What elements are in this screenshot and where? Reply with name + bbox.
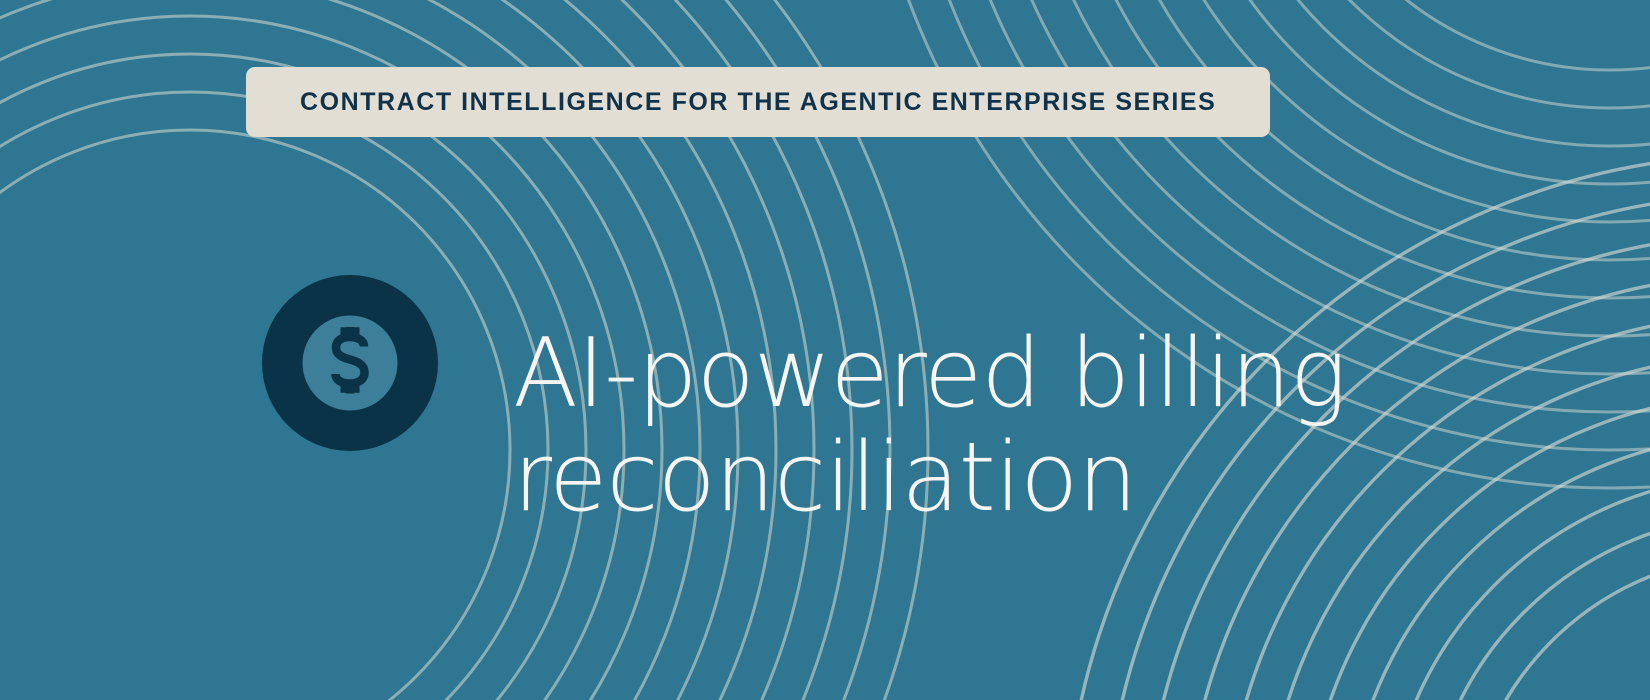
series-badge-label: CONTRACT INTELLIGENCE FOR THE AGENTIC EN… bbox=[300, 90, 1216, 115]
hero-banner: CONTRACT INTELLIGENCE FOR THE AGENTIC EN… bbox=[0, 0, 1650, 700]
series-badge: CONTRACT INTELLIGENCE FOR THE AGENTIC EN… bbox=[246, 67, 1270, 137]
page-title: AI-powered billing reconciliation bbox=[513, 322, 1513, 530]
dollar-coin-icon bbox=[262, 275, 438, 451]
